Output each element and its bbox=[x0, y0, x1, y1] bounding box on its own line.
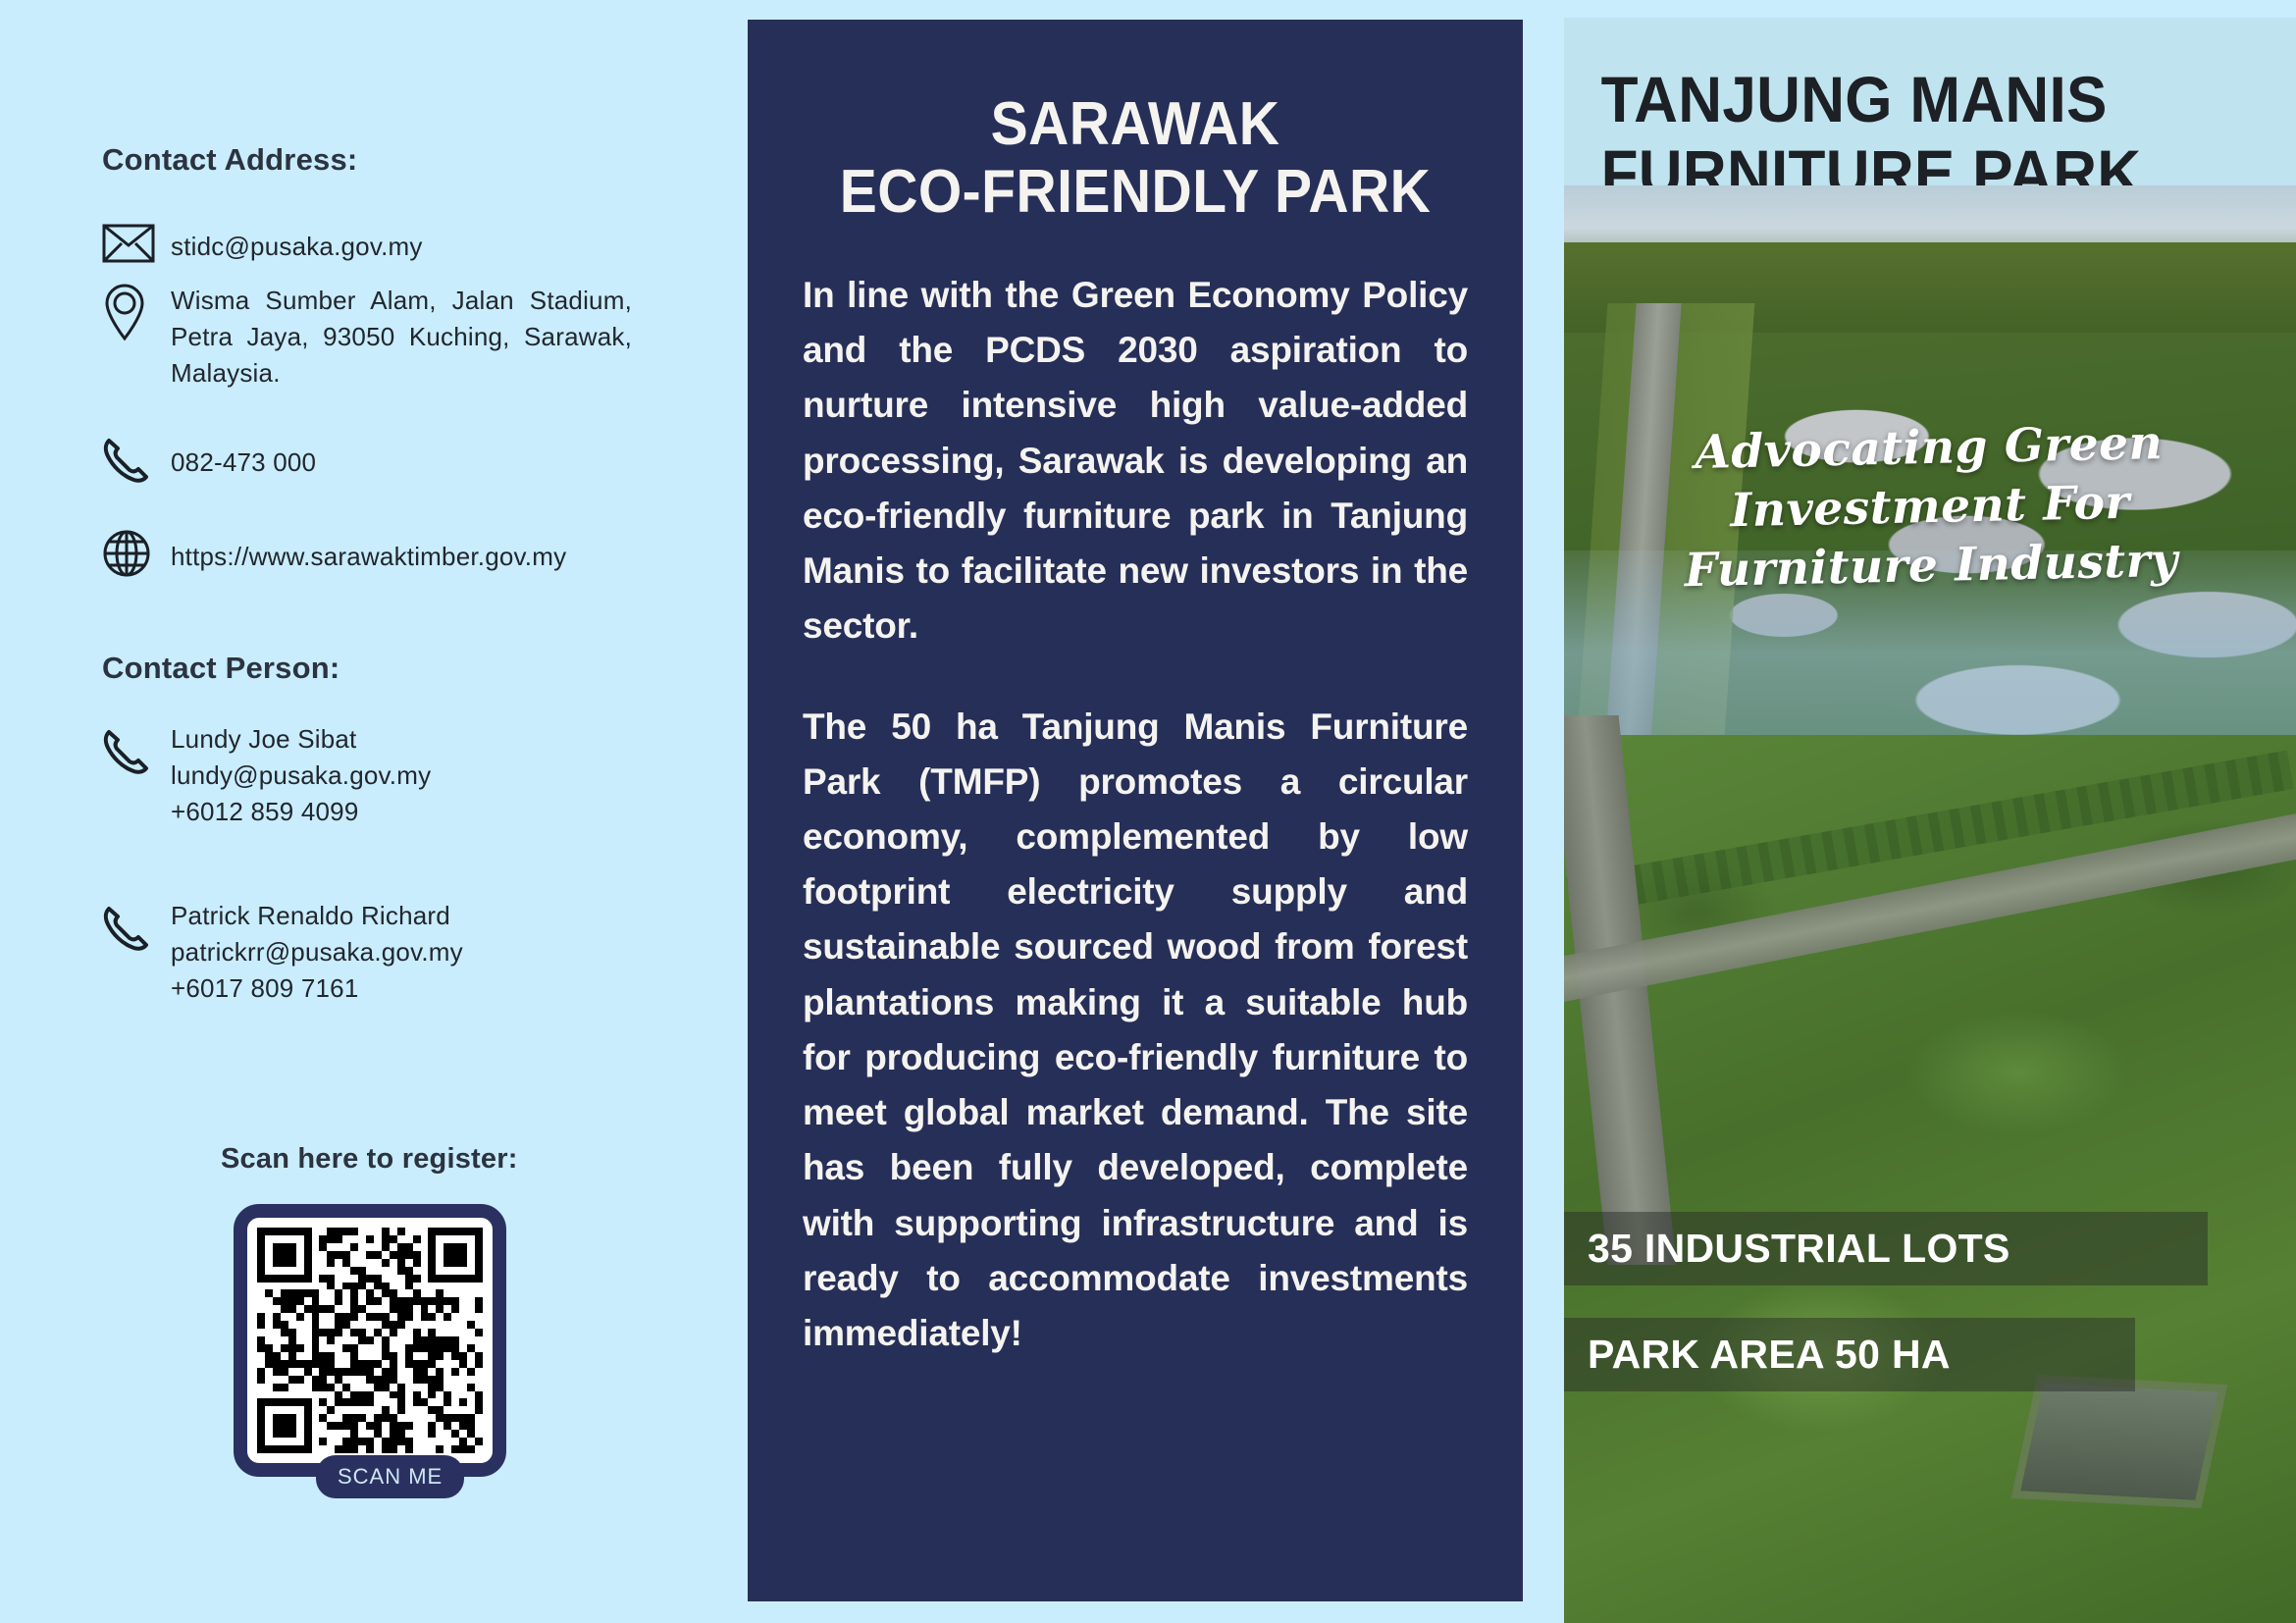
right-panel: TANJUNG MANIS FURNITURE PARK Advocating … bbox=[1564, 18, 2296, 1623]
person-2-details: Patrick Renaldo Richard patrickrr@pusaka… bbox=[171, 898, 463, 1007]
tagline-line-1: Advocating Green Investment For bbox=[1564, 411, 2296, 545]
center-panel-area: SARAWAK ECO-FRIENDLY PARK In line with t… bbox=[748, 0, 1546, 1623]
person-1-email: lundy@pusaka.gov.my bbox=[171, 758, 431, 794]
contact-address-heading: Contact Address: bbox=[102, 142, 357, 178]
person-1-mobile: +6012 859 4099 bbox=[171, 794, 431, 830]
stat-industrial-lots: 35 INDUSTRIAL LOTS bbox=[1564, 1212, 2208, 1285]
stat-park-area: PARK AREA 50 HA bbox=[1564, 1318, 2135, 1391]
contact-person-1-row[interactable]: Lundy Joe Sibat lundy@pusaka.gov.my +601… bbox=[102, 721, 431, 830]
qr-code-matrix bbox=[257, 1228, 483, 1453]
aerial-photo-industrial-park: Advocating Green Investment For Furnitur… bbox=[1564, 185, 2296, 1623]
envelope-icon bbox=[102, 214, 171, 273]
person-2-email: patrickrr@pusaka.gov.my bbox=[171, 934, 463, 970]
phone-icon bbox=[102, 430, 171, 489]
website-value: https://www.sarawaktimber.gov.my bbox=[171, 524, 566, 575]
phone-icon bbox=[102, 721, 171, 780]
brochure: Contact Address: stidc@pusaka.gov.my Wis… bbox=[0, 0, 2296, 1623]
center-title-line-1: SARAWAK bbox=[829, 90, 1441, 158]
location-pin-icon bbox=[102, 283, 171, 341]
center-paragraph-1: In line with the Green Economy Policy an… bbox=[803, 268, 1468, 654]
contact-person-heading: Contact Person: bbox=[102, 651, 339, 686]
right-panel-area: TANJUNG MANIS FURNITURE PARK Advocating … bbox=[1546, 0, 2296, 1623]
contact-phone-row[interactable]: 082-473 000 bbox=[102, 430, 316, 489]
photo-lower-building bbox=[2021, 1383, 2218, 1499]
phone-value: 082-473 000 bbox=[171, 430, 316, 481]
left-panel-contact: Contact Address: stidc@pusaka.gov.my Wis… bbox=[0, 0, 748, 1623]
right-title-line-1: TANJUNG MANIS bbox=[1601, 63, 2216, 136]
contact-address-row: Wisma Sumber Alam, Jalan Stadium, Petra … bbox=[102, 283, 632, 392]
person-1-details: Lundy Joe Sibat lundy@pusaka.gov.my +601… bbox=[171, 721, 431, 830]
photo-tagline: Advocating Green Investment For Furnitur… bbox=[1564, 411, 2296, 603]
center-panel: SARAWAK ECO-FRIENDLY PARK In line with t… bbox=[748, 20, 1523, 1601]
person-2-name: Patrick Renaldo Richard bbox=[171, 898, 463, 934]
contact-person-2-row[interactable]: Patrick Renaldo Richard patrickrr@pusaka… bbox=[102, 898, 463, 1007]
person-1-name: Lundy Joe Sibat bbox=[171, 721, 431, 758]
right-panel-title: TANJUNG MANIS FURNITURE PARK bbox=[1564, 18, 2252, 209]
address-value: Wisma Sumber Alam, Jalan Stadium, Petra … bbox=[171, 283, 632, 392]
center-panel-title: SARAWAK ECO-FRIENDLY PARK bbox=[829, 20, 1441, 227]
contact-email-row[interactable]: stidc@pusaka.gov.my bbox=[102, 214, 423, 273]
phone-icon bbox=[102, 898, 171, 957]
person-2-mobile: +6017 809 7161 bbox=[171, 970, 463, 1007]
email-value: stidc@pusaka.gov.my bbox=[171, 214, 423, 265]
center-title-line-2: ECO-FRIENDLY PARK bbox=[829, 158, 1441, 226]
center-paragraph-2: The 50 ha Tanjung Manis Furniture Park (… bbox=[803, 700, 1468, 1362]
globe-icon bbox=[102, 524, 171, 583]
qr-code[interactable] bbox=[234, 1204, 506, 1477]
contact-website-row[interactable]: https://www.sarawaktimber.gov.my bbox=[102, 524, 566, 583]
scan-here-heading: Scan here to register: bbox=[221, 1143, 518, 1176]
scan-me-badge: SCAN ME bbox=[316, 1455, 464, 1498]
